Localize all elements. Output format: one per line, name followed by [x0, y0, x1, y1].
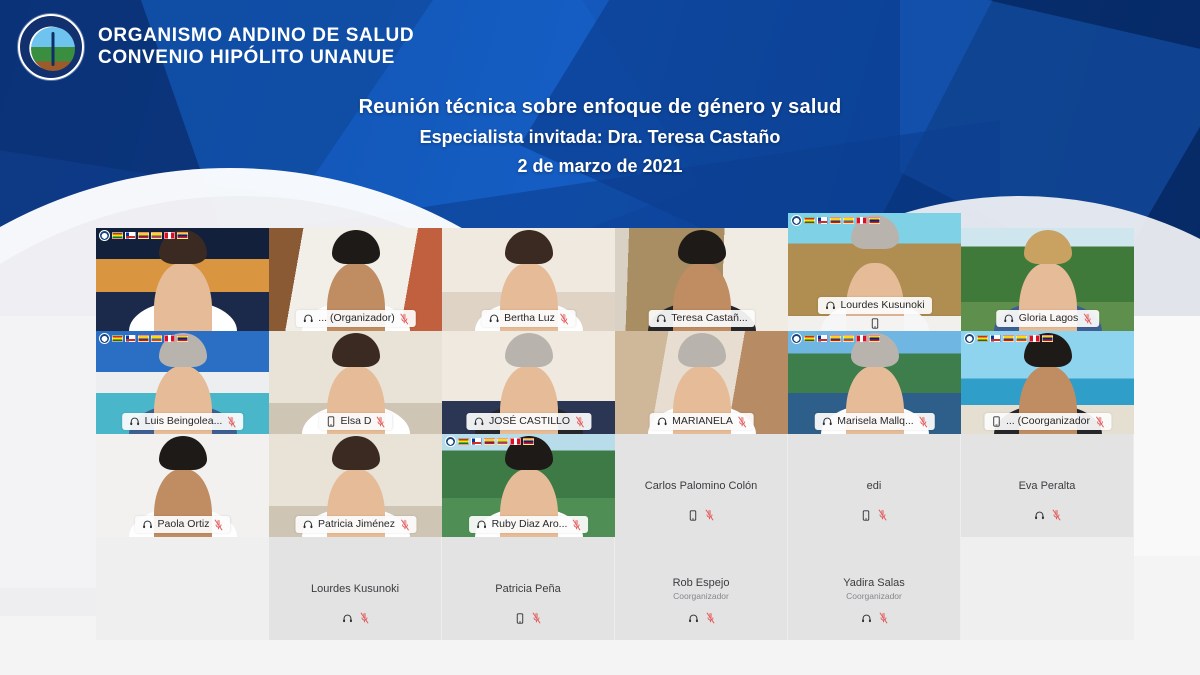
headset-icon	[473, 416, 484, 427]
phone-icon	[870, 318, 880, 329]
phone-icon	[991, 416, 1001, 427]
participant-tile[interactable]	[96, 228, 269, 331]
participant-tile[interactable]: edi	[788, 434, 961, 537]
ecuador-flag-icon	[151, 335, 162, 342]
participant-placeholder: Carlos Palomino Colón	[615, 434, 787, 537]
andean-countries-flag-strip	[791, 333, 880, 344]
ecuador-flag-icon	[151, 232, 162, 239]
participant-name: Carlos Palomino Colón	[645, 480, 758, 492]
peru-flag-icon	[164, 335, 175, 342]
participant-name: MARIANELA	[672, 415, 733, 428]
participant-name-badge: Elsa D	[319, 413, 393, 430]
participant-tile[interactable]: Luis Beingolea...	[96, 331, 269, 434]
andean-emblem-icon	[99, 333, 110, 344]
participant-name-badge: Bertha Luz	[481, 310, 576, 327]
participant-silhouette-hair	[159, 436, 207, 470]
meeting-title-block: Reunión técnica sobre enfoque de género …	[0, 96, 1200, 177]
participant-tile[interactable]: ... (Organizador)	[269, 228, 442, 331]
participant-silhouette-hair	[678, 333, 726, 367]
participant-grid-row: Paola OrtizPatricia JiménezRuby Diaz Aro…	[96, 434, 1140, 537]
ecuador-flag-icon	[497, 438, 508, 445]
chile-flag-icon	[817, 217, 828, 224]
participant-silhouette-hair	[332, 333, 380, 367]
participant-name: Lourdes Kusunoki	[840, 299, 924, 312]
participant-name: Eva Peralta	[1019, 480, 1076, 492]
participant-name-badge: MARIANELA	[649, 413, 754, 430]
phone-icon	[688, 510, 698, 521]
participant-tile[interactable]: ... (Coorganizador	[961, 331, 1134, 434]
headset-icon	[476, 519, 487, 530]
muted-mic-icon	[400, 519, 409, 531]
participant-tile[interactable]: Lourdes Kusunoki	[269, 537, 442, 640]
participant-tile[interactable]: Paola Ortiz	[96, 434, 269, 537]
bolivia-flag-icon	[804, 335, 815, 342]
participant-placeholder: Rob EspejoCoorganizador	[615, 537, 787, 640]
headset-icon	[302, 519, 313, 530]
muted-mic-icon	[738, 416, 747, 428]
andean-emblem-icon	[445, 436, 456, 447]
headset-icon	[688, 613, 699, 624]
chile-flag-icon	[125, 335, 136, 342]
muted-mic-icon	[400, 313, 409, 325]
participant-status-icons	[788, 509, 960, 521]
participant-role: Coorganizador	[673, 591, 729, 601]
participant-placeholder: edi	[788, 434, 960, 537]
muted-mic-icon	[376, 416, 385, 428]
muted-mic-icon	[1083, 313, 1092, 325]
chile-flag-icon	[471, 438, 482, 445]
participant-silhouette-hair	[505, 230, 553, 264]
participant-tile[interactable]: Yadira SalasCoorganizador	[788, 537, 961, 640]
phone-icon	[515, 613, 525, 624]
venezuela-flag-icon	[869, 335, 880, 342]
participant-name: Patricia Peña	[495, 583, 560, 595]
participant-name: Yadira Salas	[843, 577, 905, 589]
participant-name-badge: Paola Ortiz	[135, 516, 231, 533]
participant-name-badge: Teresa Castañ...	[648, 310, 754, 327]
chile-flag-icon	[817, 335, 828, 342]
empty-tile	[96, 537, 269, 640]
muted-mic-icon	[227, 416, 236, 428]
participant-name: Rob Espejo	[673, 577, 730, 589]
participant-name-badge: ... (Organizador)	[295, 310, 415, 327]
venezuela-flag-icon	[1042, 335, 1053, 342]
headset-icon	[1003, 313, 1014, 324]
meeting-date: 2 de marzo de 2021	[0, 156, 1200, 177]
muted-mic-icon	[560, 313, 569, 325]
org-name-line2: CONVENIO HIPÓLITO UNANUE	[98, 47, 414, 69]
headset-icon	[129, 416, 140, 427]
participant-name: Lourdes Kusunoki	[311, 583, 399, 595]
participant-name-badge: JOSÉ CASTILLO	[466, 413, 591, 430]
participant-silhouette-hair	[332, 436, 380, 470]
ecuador-flag-icon	[1016, 335, 1027, 342]
participant-tile[interactable]: Gloria Lagos	[961, 228, 1134, 331]
muted-mic-icon	[572, 519, 581, 531]
meeting-screenshot: ORGANISMO ANDINO DE SALUD CONVENIO HIPÓL…	[0, 0, 1200, 675]
muted-mic-icon	[532, 612, 541, 624]
headset-icon	[1034, 510, 1045, 521]
muted-mic-icon	[360, 612, 369, 624]
participant-tile[interactable]: Elsa D	[269, 331, 442, 434]
participant-placeholder: Eva Peralta	[961, 434, 1133, 537]
chile-flag-icon	[990, 335, 1001, 342]
participant-name: Elsa D	[341, 415, 372, 428]
participant-name: edi	[867, 480, 882, 492]
participant-name: Luis Beingolea...	[145, 415, 223, 428]
participant-name: Teresa Castañ...	[671, 312, 747, 325]
participant-status-icons	[615, 509, 787, 521]
ecuador-flag-icon	[843, 217, 854, 224]
bolivia-flag-icon	[804, 217, 815, 224]
colombia-flag-icon	[830, 217, 841, 224]
meeting-title: Reunión técnica sobre enfoque de género …	[0, 96, 1200, 119]
participant-name: Ruby Diaz Aro...	[492, 518, 568, 531]
participant-tile[interactable]: Patricia Peña	[442, 537, 615, 640]
colombia-flag-icon	[830, 335, 841, 342]
participant-silhouette-hair	[505, 333, 553, 367]
participant-video-feed	[96, 228, 269, 331]
muted-mic-icon	[706, 612, 715, 624]
muted-mic-icon	[879, 612, 888, 624]
participant-tile[interactable]: Rob EspejoCoorganizador	[615, 537, 788, 640]
peru-flag-icon	[510, 438, 521, 445]
muted-mic-icon	[878, 509, 887, 521]
participant-silhouette-hair	[332, 230, 380, 264]
phone-icon	[861, 510, 871, 521]
participant-tile[interactable]: Patricia Jiménez	[269, 434, 442, 537]
participant-name: ... (Coorganizador	[1006, 415, 1090, 428]
participant-status-icons	[615, 612, 787, 624]
participant-tile[interactable]: Bertha Luz	[442, 228, 615, 331]
participant-tile[interactable]: Eva Peralta	[961, 434, 1134, 537]
participant-tile[interactable]: Lourdes Kusunoki	[788, 213, 961, 331]
participant-tile[interactable]: Carlos Palomino Colón	[615, 434, 788, 537]
peru-flag-icon	[164, 232, 175, 239]
participant-name-badge: ... (Coorganizador	[984, 413, 1111, 430]
andean-countries-flag-strip	[99, 333, 188, 344]
participant-tile[interactable]: Teresa Castañ...	[615, 228, 788, 331]
muted-mic-icon	[705, 509, 714, 521]
participant-name-badge: Patricia Jiménez	[295, 516, 416, 533]
bolivia-flag-icon	[112, 232, 123, 239]
bolivia-flag-icon	[112, 335, 123, 342]
participant-name: ... (Organizador)	[318, 312, 394, 325]
participant-tile[interactable]: MARIANELA	[615, 331, 788, 434]
participant-tile[interactable]: Marisela Mallq...	[788, 331, 961, 434]
venezuela-flag-icon	[523, 438, 534, 445]
andean-emblem-icon	[791, 215, 802, 226]
participant-name-badge: Luis Beingolea...	[122, 413, 244, 430]
ecuador-flag-icon	[843, 335, 854, 342]
participant-name: JOSÉ CASTILLO	[489, 415, 570, 428]
headset-icon	[142, 519, 153, 530]
colombia-flag-icon	[138, 232, 149, 239]
headset-video-icon	[302, 313, 313, 324]
peru-flag-icon	[856, 217, 867, 224]
andean-emblem-icon	[964, 333, 975, 344]
participant-status-icons	[442, 612, 614, 624]
muted-mic-icon	[1052, 509, 1061, 521]
empty-tile	[961, 537, 1134, 640]
participant-name: Gloria Lagos	[1019, 312, 1079, 325]
participant-silhouette-head	[154, 263, 212, 331]
phone-icon	[326, 416, 336, 427]
participant-tile[interactable]: JOSÉ CASTILLO	[442, 331, 615, 434]
participant-name: Patricia Jiménez	[318, 518, 395, 531]
participant-silhouette-hair	[1024, 230, 1072, 264]
participant-status-icons	[961, 509, 1133, 521]
venezuela-flag-icon	[177, 232, 188, 239]
andean-emblem-icon	[99, 230, 110, 241]
andean-countries-flag-strip	[964, 333, 1053, 344]
participant-grid-row: Lourdes KusunokiPatricia PeñaRob EspejoC…	[96, 537, 1140, 640]
participant-status-icons	[269, 612, 441, 624]
venezuela-flag-icon	[869, 217, 880, 224]
participant-name: Paola Ortiz	[158, 518, 210, 531]
participant-name-badge: Marisela Mallq...	[814, 413, 934, 430]
chile-flag-icon	[125, 232, 136, 239]
participant-grid-row: Luis Beingolea...Elsa DJOSÉ CASTILLOMARI…	[96, 331, 1140, 434]
participant-status-icons	[788, 612, 960, 624]
headset-icon	[824, 300, 835, 311]
headset-icon	[656, 416, 667, 427]
headset-icon	[861, 613, 872, 624]
participant-name-badge: Gloria Lagos	[996, 310, 1100, 327]
participant-tile[interactable]: Ruby Diaz Aro...	[442, 434, 615, 537]
participant-name-badge: Ruby Diaz Aro...	[469, 516, 589, 533]
headset-icon	[655, 313, 666, 324]
peru-flag-icon	[1029, 335, 1040, 342]
andean-countries-flag-strip	[791, 215, 880, 226]
participant-name-badge: Lourdes Kusunoki	[817, 297, 931, 314]
participant-placeholder: Lourdes Kusunoki	[269, 537, 441, 640]
headset-icon	[821, 416, 832, 427]
colombia-flag-icon	[1003, 335, 1014, 342]
participant-silhouette-hair	[678, 230, 726, 264]
participant-name: Marisela Mallq...	[837, 415, 913, 428]
muted-mic-icon	[214, 519, 223, 531]
participant-placeholder: Yadira SalasCoorganizador	[788, 537, 960, 640]
participant-role: Coorganizador	[846, 591, 902, 601]
andean-countries-flag-strip	[445, 436, 534, 447]
participant-grid-row: ... (Organizador)Bertha LuzTeresa Castañ…	[96, 228, 1140, 331]
headset-icon	[342, 613, 353, 624]
org-name-line1: ORGANISMO ANDINO DE SALUD	[98, 25, 414, 47]
participant-grid: ... (Organizador)Bertha LuzTeresa Castañ…	[96, 228, 1140, 640]
andean-countries-flag-strip	[99, 230, 188, 241]
bolivia-flag-icon	[458, 438, 469, 445]
peru-flag-icon	[856, 335, 867, 342]
participant-placeholder: Patricia Peña	[442, 537, 614, 640]
bolivia-flag-icon	[977, 335, 988, 342]
colombia-flag-icon	[484, 438, 495, 445]
venezuela-flag-icon	[177, 335, 188, 342]
muted-mic-icon	[1095, 416, 1104, 428]
participant-name: Bertha Luz	[504, 312, 555, 325]
colombia-flag-icon	[138, 335, 149, 342]
muted-mic-icon	[575, 416, 584, 428]
muted-mic-icon	[919, 416, 928, 428]
organization-brand: ORGANISMO ANDINO DE SALUD CONVENIO HIPÓL…	[18, 14, 414, 80]
andean-emblem-icon	[791, 333, 802, 344]
headset-icon	[488, 313, 499, 324]
participant-phone-bar	[788, 316, 961, 331]
meeting-speaker: Especialista invitada: Dra. Teresa Casta…	[0, 127, 1200, 148]
organization-seal-icon	[18, 14, 84, 80]
